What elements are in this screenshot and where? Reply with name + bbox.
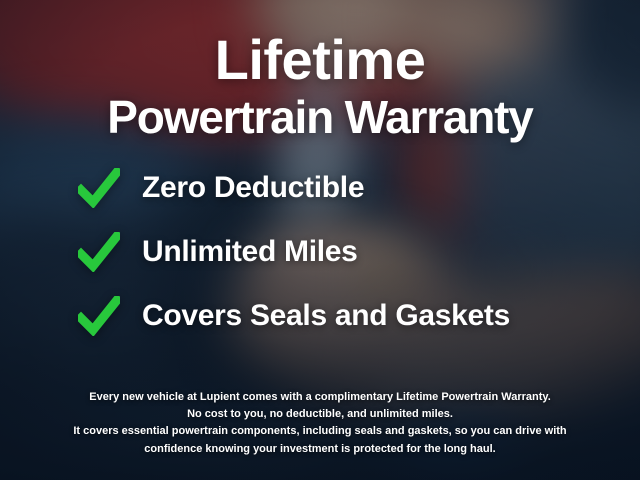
feature-item-covers-seals-and-gaskets: Covers Seals and Gaskets bbox=[78, 296, 510, 336]
feature-label: Unlimited Miles bbox=[142, 235, 358, 269]
feature-item-zero-deductible: Zero Deductible bbox=[78, 168, 364, 208]
headline-line-1: Lifetime bbox=[0, 32, 640, 88]
check-icon bbox=[78, 232, 120, 272]
feature-label: Zero Deductible bbox=[142, 171, 364, 205]
banner-content: Lifetime Powertrain Warranty Zero Deduct… bbox=[0, 0, 640, 480]
headline-line-2: Powertrain Warranty bbox=[0, 94, 640, 140]
footer-disclaimer: Every new vehicle at Lupient comes with … bbox=[0, 389, 640, 459]
feature-list: Zero Deductible Unlimited Miles Covers S… bbox=[0, 168, 640, 336]
feature-label: Covers Seals and Gaskets bbox=[142, 299, 510, 333]
footer-line-3: It covers essential powertrain component… bbox=[24, 423, 616, 440]
warranty-promo-banner: Lifetime Powertrain Warranty Zero Deduct… bbox=[0, 0, 640, 480]
check-icon bbox=[78, 296, 120, 336]
feature-item-unlimited-miles: Unlimited Miles bbox=[78, 232, 358, 272]
check-icon bbox=[78, 168, 120, 208]
footer-line-4: confidence knowing your investment is pr… bbox=[24, 441, 616, 458]
footer-line-1: Every new vehicle at Lupient comes with … bbox=[24, 389, 616, 406]
footer-line-2: No cost to you, no deductible, and unlim… bbox=[24, 406, 616, 423]
